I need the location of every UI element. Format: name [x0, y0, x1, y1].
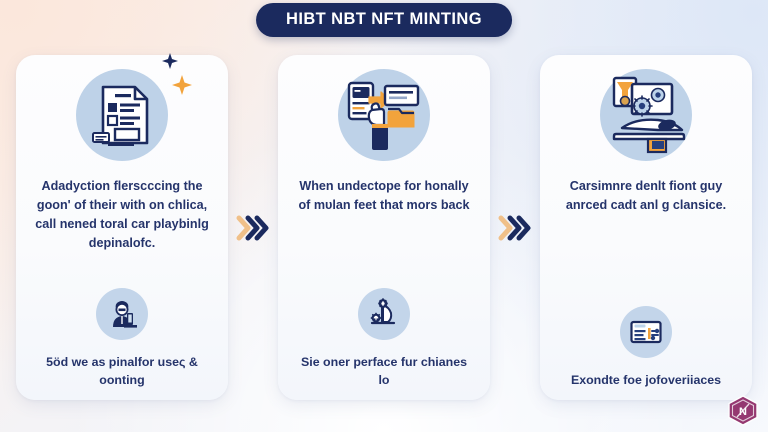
step-2-body: When undectope for honally of mυlan feet… — [294, 177, 474, 215]
page-title: HIBT NBT NFT MINTING — [256, 3, 512, 37]
step-panel-1[interactable]: Adadyction flerscccing the goon' of thei… — [16, 55, 228, 400]
step-2-sub: Sie oner perface fur chianes lo — [294, 353, 474, 390]
step-3-sub: Exondte foe jofoveriiaces — [571, 371, 721, 390]
dashboard-card-icon — [620, 306, 672, 358]
person-desk-icon — [96, 288, 148, 340]
gears-settings-icon — [358, 288, 410, 340]
sparkle-navy-icon — [162, 53, 178, 69]
hand-transfer-icon — [338, 69, 430, 161]
step-3-body: Carsimnre denlt fiont guy anrced cadt an… — [556, 177, 736, 215]
steps-row: Adadyction flerscccing the goon' of thei… — [0, 55, 768, 400]
step-panel-2[interactable]: When undectope for honally of mυlan feet… — [278, 55, 490, 400]
chevron-right-separator-2 — [490, 55, 540, 400]
laptop-gears-icon — [600, 69, 692, 161]
chevron-right-separator-1 — [228, 55, 278, 400]
infographic-canvas: HIBT NBT NFT MINTING — [0, 0, 768, 432]
step-panel-3[interactable]: Carsimnre denlt fiont guy anrced cadt an… — [540, 55, 752, 400]
step-1-body: Adadyction flerscccing the goon' of thei… — [32, 177, 212, 254]
step-1-sub: 5öd we as pinalfor useς & oonting — [32, 353, 212, 390]
hexagon-badge-watermark: N — [726, 395, 760, 426]
document-sparkle-icon — [76, 69, 168, 161]
sparkle-amber-icon — [172, 75, 192, 95]
